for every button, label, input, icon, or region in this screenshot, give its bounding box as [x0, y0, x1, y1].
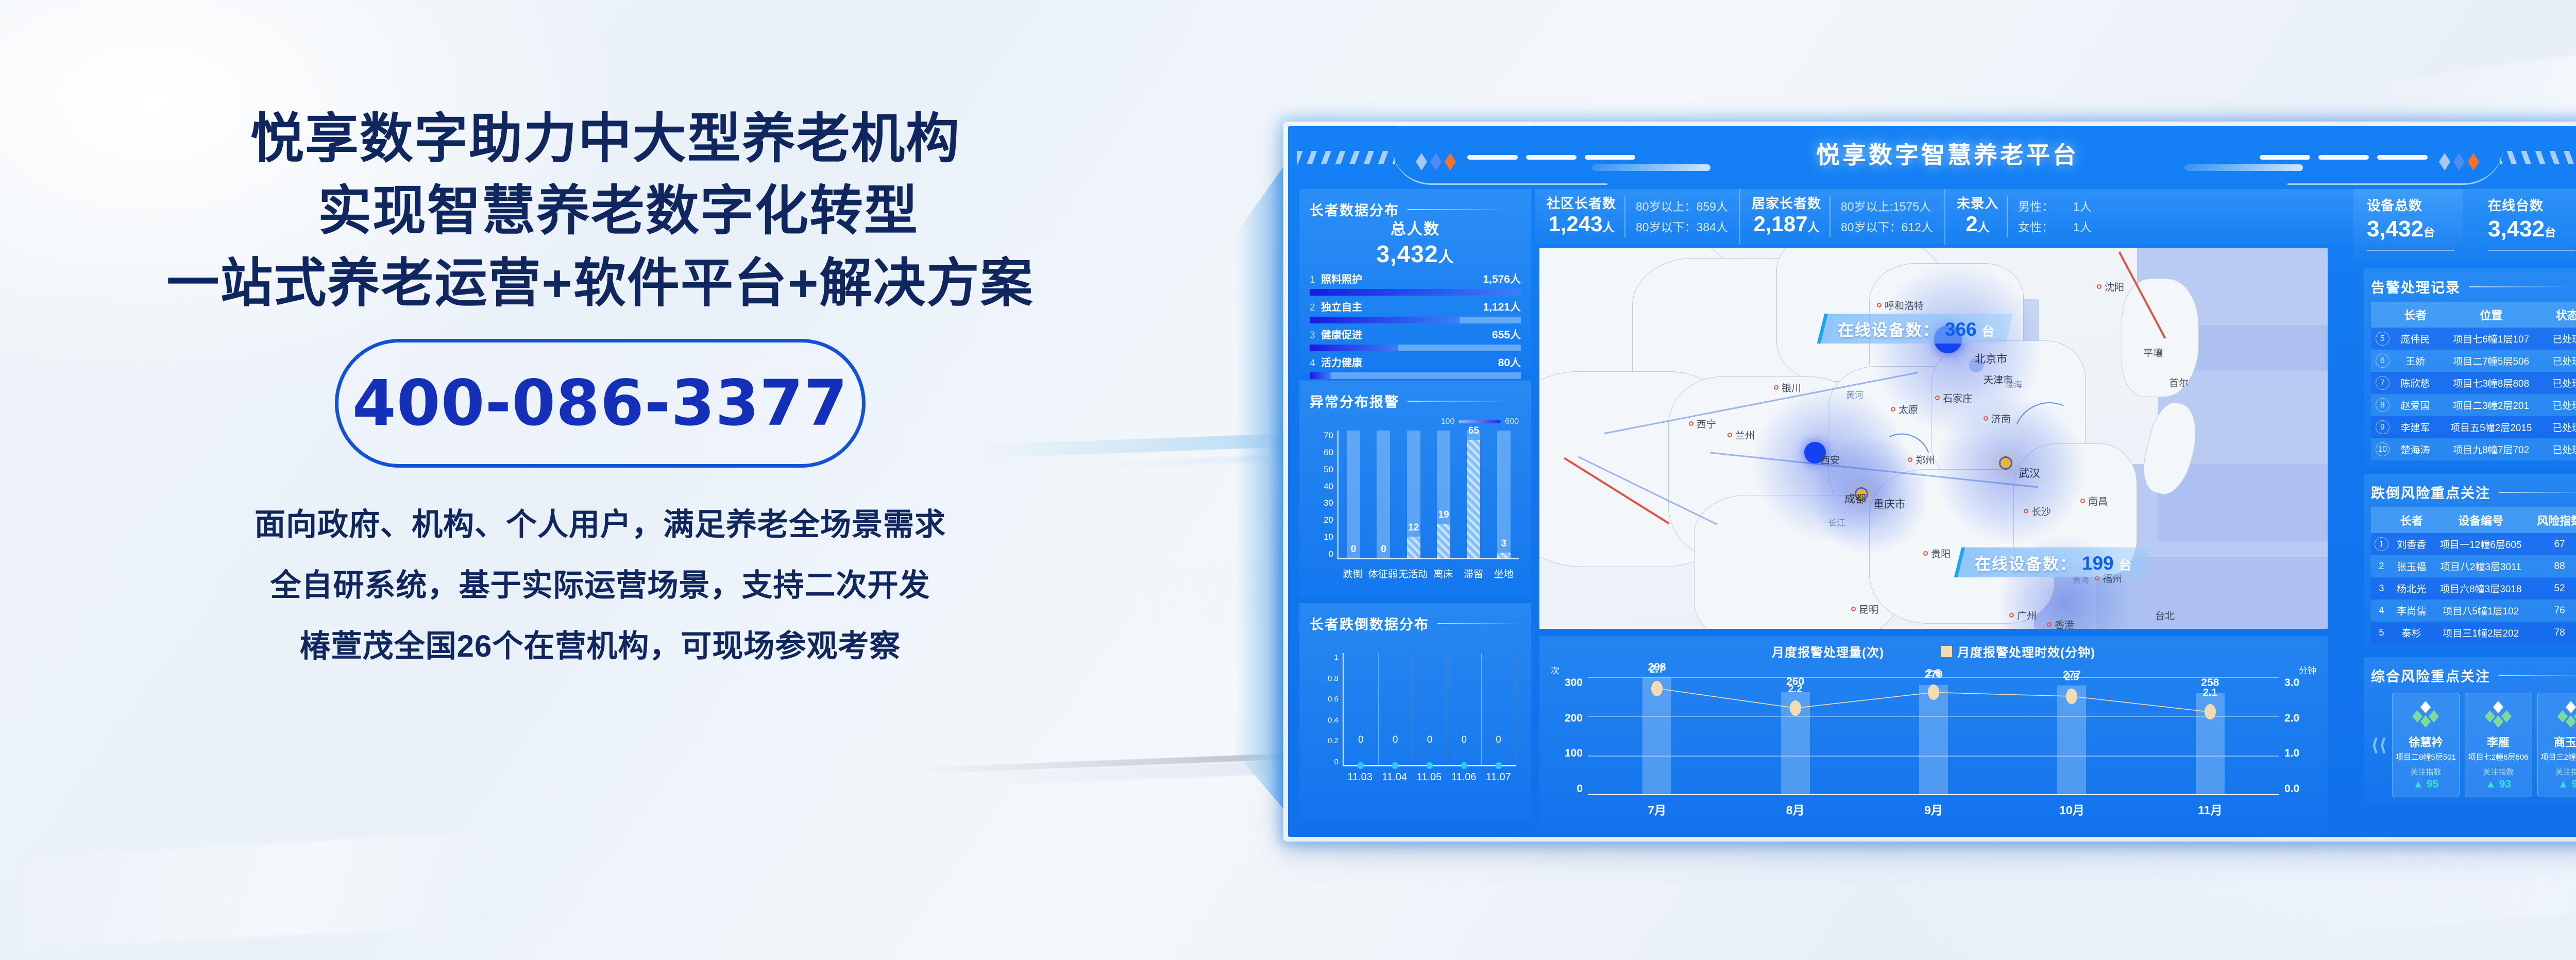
table-row[interactable]: 7陈欣慈项目七3幢8层808已处理: [2371, 372, 2576, 394]
gridline: [1516, 653, 1516, 766]
data-point[interactable]: [2205, 704, 2216, 719]
bar-column[interactable]: 65: [1459, 431, 1488, 558]
table-cell: 76: [2531, 599, 2576, 622]
x-tick: 10月: [2003, 800, 2141, 818]
table-cell: 项目二7幢5层506: [2436, 350, 2546, 372]
progress-track: [1310, 317, 1521, 323]
point-value: 2.1: [2203, 687, 2217, 699]
map-callout-2: 在线设备数： 199 台: [1954, 547, 2150, 577]
bar: 12: [1407, 537, 1420, 559]
table-row[interactable]: 2张玉福项目八2幢3层301188: [2371, 555, 2576, 577]
row-value: 655人: [1492, 327, 1521, 342]
data-point[interactable]: [1427, 762, 1433, 769]
table-cell: 88: [2531, 555, 2576, 577]
x-tick: 7月: [1588, 800, 1726, 818]
gridline: [1447, 653, 1447, 766]
device-online-cell: 在线台数 3,432台: [2475, 189, 2576, 261]
device-total-value: 3,432: [2367, 216, 2424, 242]
progress-track: [1310, 345, 1521, 351]
page-title: 悦享数字智慧养老平台: [1288, 136, 2576, 170]
row-index: 1: [1310, 275, 1321, 286]
map-city-label: 重庆市: [1873, 496, 1906, 511]
bar-column[interactable]: 0: [1368, 431, 1398, 558]
map-city-label: 呼和浩特: [1877, 298, 1924, 312]
plot-area: 298260279277258 2.72.22.62.52.1: [1588, 677, 2279, 795]
table-cell: 项目七3幢8层808: [2436, 372, 2546, 394]
distribution-list: 1照料照护1,576人2独立自主1,121人3健康促进655人4活力健康80人: [1310, 271, 1521, 379]
y-tick-left: 200: [1565, 712, 1583, 725]
panel-anomaly-alarms: 异常分布报警 100 600 706050403020100 001219653…: [1299, 381, 1531, 597]
chart-legend: 100 600: [1441, 417, 1519, 426]
point-value: 2.6: [1926, 667, 1941, 679]
y-tick: 0.6: [1328, 695, 1338, 704]
table-row[interactable]: 9李建军项目五5幢2层2015已处理: [2371, 416, 2576, 438]
map-city-label: 石家庄: [1935, 391, 1972, 405]
x-tick: 9月: [1865, 800, 2003, 818]
map-river-label: 长江: [1828, 516, 1845, 528]
row-label: 独立自主: [1321, 299, 1483, 314]
table-cell: 67: [2531, 533, 2576, 555]
stat-sub-under80: 80岁以下：612人: [1841, 217, 1933, 237]
map-city-label: 平壤: [2143, 346, 2163, 359]
data-point[interactable]: [1461, 762, 1467, 769]
headline-1: 悦享数字助力中大型养老机构: [0, 103, 1200, 175]
row-index: 1: [2371, 533, 2392, 555]
table-cell: 秦杉: [2392, 622, 2431, 644]
x-tick: 跌倒: [1337, 567, 1368, 580]
combo-plot: 次 分钟 3002001000 3.02.01.00.0 29826027927…: [1549, 662, 2318, 817]
y-tick: 60: [1324, 448, 1333, 458]
column-header: 状态: [2546, 302, 2576, 328]
bar-background: [1377, 431, 1390, 558]
progress-fill: [1310, 372, 1331, 379]
stat-value: 2,187: [1753, 212, 1807, 236]
gridline: [1413, 653, 1413, 766]
legend-item-duration[interactable]: 月度报警处理时效(分钟): [1941, 642, 2095, 660]
data-point[interactable]: [1928, 684, 1939, 700]
bar: 65: [1467, 440, 1480, 558]
headline-3: 一站式养老运营+软件平台+解决方案: [0, 247, 1200, 319]
map-city-label: 北京市: [1975, 351, 2007, 366]
map-city-label: 广州: [2009, 608, 2037, 622]
table-row[interactable]: 10楚海涛项目九8幢7层702已处理: [2371, 438, 2576, 460]
table-cell: 赵爱国: [2394, 394, 2437, 416]
point-value: 2.7: [1650, 664, 1664, 676]
table-row[interactable]: 6王娇项目二7幢5层506已处理: [2371, 350, 2576, 372]
background-streak: [19, 833, 486, 950]
bar-value: 65: [1468, 425, 1479, 437]
card-location: 项目七2幢6层606: [2468, 751, 2529, 762]
bar: 3: [1497, 553, 1511, 558]
row-label: 健康促进: [1321, 327, 1492, 341]
table-cell: 已处理: [2546, 416, 2576, 438]
distribution-row: 2独立自主1,121人: [1310, 299, 1521, 323]
y-tick: 0: [1334, 758, 1338, 766]
table-cell: 项目一12幢6层605: [2431, 533, 2531, 555]
row-value: 80人: [1498, 354, 1521, 370]
panel-title-text: 异常分布报警: [1310, 391, 1399, 411]
stat-label: 社区长者数: [1547, 195, 1616, 212]
y-tick-left: 100: [1565, 747, 1583, 760]
x-tick: 11.03: [1343, 772, 1377, 783]
bar-column[interactable]: 12: [1399, 431, 1429, 558]
x-tick: 滞留: [1459, 567, 1489, 580]
stat-unit: 人: [1978, 220, 1990, 234]
distribution-row: 3健康促进655人: [1310, 327, 1521, 351]
table-cell: 杨北光: [2392, 577, 2431, 599]
device-total-cell: 设备总数 3,432台: [2353, 189, 2475, 261]
x-tick: 11.04: [1377, 772, 1412, 783]
column-header: 位置: [2436, 302, 2546, 328]
dashboard-right-column: 告警处理记录 长者位置状态 5庞伟民项目七6幢1层107已处理6王娇项目二7幢5…: [2364, 268, 2576, 811]
card-name: 徐慧衿: [2396, 733, 2456, 750]
bar-column[interactable]: 19: [1429, 431, 1459, 558]
map-city-label: 兰州: [1727, 428, 1755, 442]
table-cell: 已处理: [2546, 438, 2576, 460]
table-cell: 项目七6幢1层107: [2436, 328, 2546, 350]
map-city-label: 西宁: [1689, 417, 1716, 431]
risk-card[interactable]: 商玉琴项目三2幢2层205关注指数▲ 96: [2537, 693, 2576, 797]
x-tick: 11月: [2141, 800, 2279, 818]
table-cell: 楚海涛: [2394, 438, 2437, 460]
y-tick-right: 1.0: [2284, 747, 2299, 760]
card-location: 项目三2幢2层205: [2541, 751, 2576, 762]
map-city-label: 济南: [1984, 412, 2011, 425]
x-tick: 无活动: [1398, 567, 1428, 580]
fall-risk-table: 长者设备编号风险指数 1刘香香项目一12幢6层605672张玉福项目八2幢3层3…: [2371, 507, 2576, 644]
callout-value: 199: [2082, 553, 2114, 574]
map-city-label: 武汉: [2019, 465, 2040, 481]
y-tick-left: 300: [1565, 677, 1583, 689]
title-rule: [2499, 492, 2576, 493]
row-index: 8: [2371, 394, 2394, 416]
table-cell: 项目二3幢2层201: [2436, 394, 2546, 416]
panel-title-text: 长者跌倒数据分布: [1310, 613, 1429, 633]
title-rule: [2469, 286, 2572, 287]
bar-column[interactable]: 0: [1338, 431, 1368, 558]
table-row[interactable]: 5秦杉项目三1幢2层20278: [2371, 622, 2576, 644]
device-online-label: 在线台数: [2488, 195, 2576, 214]
legend-item-volume[interactable]: 月度报警处理量(次): [1772, 642, 1884, 660]
x-tick: 11.06: [1447, 772, 1481, 783]
line-plot-area: 00000: [1343, 653, 1516, 766]
y-tick: 30: [1324, 498, 1333, 508]
table-row[interactable]: 4李尚儒项目八5幢1层10276: [2371, 599, 2576, 622]
title-rule: [1408, 209, 1511, 210]
map-city-label: 香港: [2047, 618, 2074, 629]
map-city-label: 银川: [1774, 381, 1801, 395]
bar-value: 12: [1408, 522, 1419, 534]
title-rule: [1437, 623, 1521, 624]
table-cell: 庞伟民: [2394, 328, 2437, 350]
row-index: 4: [1310, 358, 1321, 369]
table-cell: 52: [2531, 577, 2576, 599]
callout-text: 在线设备数：: [1975, 551, 2077, 574]
sub-line-3: 椿萱茂全国26个在营机构，可现场参观考察: [0, 616, 1200, 677]
card-index-value: ▲ 93: [2468, 778, 2529, 791]
table-cell: 项目六8幢3层3018: [2431, 577, 2531, 599]
column-header: [2371, 302, 2394, 328]
card-location: 项目二8幢5层501: [2396, 751, 2456, 762]
row-index: 2: [1310, 302, 1321, 314]
marketing-copy: 悦享数字助力中大型养老机构 实现智慧养老数字化转型 一站式养老运营+软件平台+解…: [0, 103, 1200, 677]
stat-label: 未录入: [1957, 195, 1998, 212]
panel-alarm-records: 告警处理记录 长者位置状态 5庞伟民项目七6幢1层107已处理6王娇项目二7幢5…: [2364, 268, 2576, 467]
map-city-label: 郑州: [1908, 453, 1935, 467]
gender-male-label: 男性：: [2018, 196, 2054, 217]
column-header: 设备编号: [2431, 507, 2531, 533]
progress-fill: [1310, 317, 1460, 323]
callout-text: 在线设备数：: [1838, 317, 1940, 340]
row-index: 7: [2371, 372, 2394, 394]
stat-unit: 人: [1603, 220, 1615, 234]
map-sea-label: 渤海: [2006, 378, 2022, 390]
row-index: 6: [2371, 350, 2394, 372]
callout-unit: 台: [1982, 321, 1995, 340]
panel-title: 异常分布报警: [1310, 391, 1521, 411]
phone-number: 400-086-3377: [352, 367, 848, 440]
legend-label: 月度报警处理时效(分钟): [1957, 642, 2095, 660]
stat-value: 1,243: [1548, 212, 1602, 236]
point-value: 2.2: [1788, 683, 1803, 695]
table-cell: 78: [2531, 622, 2576, 644]
y-tick: 0: [1329, 549, 1333, 559]
map-callout-1: 在线设备数： 366 台: [1817, 314, 2013, 344]
map-city-label: 贵阳: [1923, 546, 1951, 560]
row-label: 照料照护: [1321, 271, 1483, 286]
map-node-wuhan[interactable]: [1999, 456, 2012, 470]
risk-card[interactable]: 李雁项目七2幢6层606关注指数▲ 93: [2465, 693, 2532, 797]
x-tick: 坐地: [1488, 567, 1519, 580]
y-axis-ticks: 706050403020100: [1310, 431, 1333, 559]
table-cell: 项目九8幢7层702: [2436, 438, 2546, 460]
row-index: 10: [2371, 438, 2394, 460]
bar-value: 0: [1381, 544, 1386, 555]
card-index-label: 关注指数: [2396, 766, 2456, 777]
chevron-left-icon[interactable]: ⟨⟨: [2371, 735, 2387, 756]
point-value: 2.5: [2064, 672, 2079, 683]
table-row[interactable]: 8赵爱国项目二3幢2层201已处理: [2371, 394, 2576, 416]
table-cell: 张玉福: [2392, 555, 2431, 577]
diamond-cluster-icon: [2468, 699, 2529, 731]
progress-fill: [1310, 345, 1398, 351]
stat-unregistered: 未录入 2人 男性：1人 女性：1人: [1944, 189, 2103, 245]
device-online-unit: 台: [2545, 226, 2556, 239]
divider: [2367, 250, 2454, 251]
dashboard-header: 悦享数字智慧养老平台: [1288, 126, 2576, 188]
bar: 19: [1437, 524, 1450, 558]
device-total-label: 设备总数: [2367, 195, 2475, 214]
card-index-value: ▲ 96: [2541, 778, 2576, 791]
data-point[interactable]: [2066, 689, 2077, 704]
panel-title-text: 综合风险重点关注: [2371, 665, 2490, 685]
panel-title-text: 告警处理记录: [2371, 277, 2461, 297]
map-city-label: 南昌: [2080, 494, 2108, 508]
column-header: 风险指数: [2531, 507, 2576, 533]
panel-title-text: 跌倒风险重点关注: [2371, 482, 2490, 502]
total-people: 总人数 3,432人: [1310, 216, 1521, 268]
point-value: 0: [1358, 734, 1364, 746]
gridline: [1378, 653, 1379, 766]
phone-cta-button[interactable]: 400-086-3377: [335, 339, 866, 468]
table-cell: 李尚儒: [2392, 599, 2431, 622]
card-index-value: ▲ 95: [2396, 778, 2456, 791]
alarm-records-table: 长者位置状态 5庞伟民项目七6幢1层107已处理6王娇项目二7幢5层506已处理…: [2371, 302, 2576, 460]
map-city-label: 西安: [1820, 453, 1840, 467]
gender-male-value: 1人: [2073, 196, 2092, 217]
map-city-label: 台北: [2155, 608, 2175, 622]
panel-fall-risk: 跌倒风险重点关注 长者设备编号风险指数 1刘香香项目一12幢6层605672张玉…: [2364, 474, 2576, 650]
stat-community-elders: 社区长者数 1,243人 80岁以上：859人 80岁以下：384人: [1535, 189, 1739, 245]
stat-sub-over80: 80岁以上:1575人: [1841, 196, 1933, 217]
callout-value: 366: [1945, 319, 1977, 340]
table-cell: 已处理: [2546, 394, 2576, 416]
map-city-label: 长沙: [2024, 504, 2051, 518]
x-axis-labels: 跌倒体征弱无活动离床滞留坐地: [1337, 567, 1519, 580]
row-index: 5: [2371, 622, 2392, 644]
row-index: 3: [1310, 330, 1321, 341]
table-row[interactable]: 3杨北光项目六8幢3层301852: [2371, 577, 2576, 599]
china-map[interactable]: 呼和浩特 北京市 天津市 沈阳 平壤 首尔 石家庄 太原 济南 银川 西宁 兰州…: [1539, 248, 2328, 629]
diamond-cluster-icon: [2541, 699, 2576, 731]
diamond-cluster-icon: [2396, 699, 2456, 731]
map-city-label: 太原: [1891, 402, 1918, 416]
y-tick-right: 0.0: [2284, 783, 2299, 795]
progress-fill: [1310, 289, 1521, 296]
sub-line-2: 全自研系统，基于实际运营场景，支持二次开发: [0, 555, 1200, 616]
anomaly-bar-chart: 100 600 706050403020100 001219653 跌倒体征弱无…: [1310, 418, 1521, 588]
card-name: 李雁: [2468, 733, 2529, 750]
x-tick: 8月: [1726, 800, 1864, 818]
chart-legend: 月度报警处理量(次) 月度报警处理时效(分钟): [1549, 642, 2318, 660]
table-cell: 李建军: [2394, 416, 2437, 438]
table-row[interactable]: 1刘香香项目一12幢6层60567: [2371, 533, 2576, 555]
card-name: 商玉琴: [2541, 733, 2576, 750]
y-axis-right-unit: 分钟: [2299, 663, 2316, 676]
column-header: 长者: [2394, 302, 2437, 328]
panel-elder-distribution: 长者数据分布 总人数 3,432人 1照料照护1,576人2独立自主1,121人…: [1299, 189, 1531, 374]
gridline: [1481, 653, 1482, 766]
fall-line-chart: 10.80.60.40.20 00000 11.0311.0411.0511.0…: [1310, 643, 1521, 802]
distribution-row: 1照料照护1,576人: [1310, 271, 1521, 296]
bar-plot-area: 001219653: [1337, 431, 1519, 559]
card-index-label: 关注指数: [2541, 766, 2576, 777]
data-point[interactable]: [1790, 700, 1801, 716]
row-index: 2: [2371, 555, 2392, 577]
map-river-label: 黄河: [1846, 388, 1863, 401]
dashboard-monitor: 悦享数字智慧养老平台 社区长者数 1,243人 80岁以上：859人 80岁以下…: [1288, 126, 2576, 837]
panel-title: 告警处理记录: [2371, 277, 2576, 297]
y-tick: 10: [1324, 532, 1333, 542]
device-total-unit: 台: [2424, 226, 2435, 239]
gender-female-value: 1人: [2073, 217, 2092, 237]
map-city-label: 昆明: [1851, 602, 1878, 616]
table-cell: 陈欣慈: [2394, 372, 2437, 394]
distribution-row: 4活力健康80人: [1310, 354, 1521, 379]
data-point[interactable]: [1358, 762, 1364, 769]
table-cell: 已处理: [2546, 372, 2576, 394]
y-tick: 0.4: [1328, 716, 1338, 725]
data-point[interactable]: [1651, 681, 1663, 696]
y-tick: 50: [1324, 465, 1333, 475]
x-tick: 11.07: [1481, 772, 1516, 783]
table-row[interactable]: 5庞伟民项目七6幢1层107已处理: [2371, 328, 2576, 350]
table-cell: 项目八5幢1层102: [2431, 599, 2531, 622]
column-header: [2371, 507, 2392, 533]
progress-track: [1310, 372, 1521, 379]
point-value: 0: [1393, 734, 1398, 746]
x-tick: 离床: [1428, 567, 1459, 580]
y-tick: 1: [1334, 653, 1338, 662]
bar-value: 3: [1501, 538, 1507, 550]
y-tick: 20: [1324, 515, 1333, 525]
table-header-row: 长者位置状态: [2371, 302, 2576, 328]
device-totals: 设备总数 3,432台 在线台数 3,432台: [2353, 189, 2576, 261]
sub-line-1: 面向政府、机构、个人用户，满足养老全场景需求: [0, 494, 1200, 555]
bar-column[interactable]: 3: [1489, 431, 1519, 558]
y-tick-right: 3.0: [2284, 677, 2299, 689]
panel-title: 综合风险重点关注: [2371, 665, 2576, 685]
table-cell: 项目八2幢3层3011: [2431, 555, 2531, 577]
risk-card[interactable]: 徐慧衿项目二8幢5层501关注指数▲ 95: [2392, 693, 2460, 797]
y-tick: 0.2: [1328, 736, 1338, 745]
total-label: 总人数: [1310, 216, 1521, 239]
row-index: 3: [2371, 577, 2392, 599]
y-tick: 70: [1324, 431, 1333, 441]
divider: [2488, 250, 2575, 251]
panel-fall-distribution: 长者跌倒数据分布 10.80.60.40.20 00000 11.0311.04…: [1299, 603, 1531, 819]
map-city-label: 首尔: [2169, 375, 2189, 389]
legend-swatch: [1941, 646, 1952, 657]
row-index: 9: [2371, 416, 2394, 438]
table-cell: 刘香香: [2392, 533, 2431, 555]
map-city-label: 成都: [1844, 491, 1866, 506]
title-rule: [1408, 401, 1511, 402]
row-label: 活力健康: [1321, 354, 1498, 369]
stats-strip: 社区长者数 1,243人 80岁以上：859人 80岁以下：384人 居家长者数…: [1535, 189, 2463, 245]
row-value: 1,121人: [1483, 299, 1521, 314]
data-point[interactable]: [1392, 762, 1399, 769]
stat-value: 2: [1965, 212, 1977, 236]
line-series: 2.72.22.62.52.1: [1588, 677, 2279, 794]
point-value: 0: [1462, 734, 1467, 746]
table-cell: 王娇: [2394, 350, 2437, 372]
data-point[interactable]: [1495, 762, 1502, 769]
y-axis-left-ticks: 3002001000: [1554, 677, 1583, 795]
stat-unit: 人: [1808, 220, 1820, 234]
y-tick-left: 0: [1577, 783, 1583, 795]
panel-title-text: 长者数据分布: [1310, 199, 1399, 219]
dashboard-screen: 悦享数字智慧养老平台 社区长者数 1,243人 80岁以上：859人 80岁以下…: [1288, 126, 2576, 837]
stat-sub-over80: 80岁以上：859人: [1636, 196, 1728, 217]
device-online-value: 3,432: [2488, 216, 2545, 242]
row-value: 1,576人: [1483, 271, 1521, 286]
monthly-alarm-chart: 月度报警处理量(次) 月度报警处理时效(分钟) 次 分钟 3002001000 …: [1539, 636, 2328, 831]
marketing-sub-lines: 面向政府、机构、个人用户，满足养老全场景需求 全自研系统，基于实际运营场景，支持…: [0, 494, 1200, 677]
legend-gradient: [1459, 420, 1501, 423]
headline-2: 实现智慧养老数字化转型: [0, 175, 1200, 247]
x-tick: 11.05: [1412, 772, 1446, 783]
table-cell: 已处理: [2546, 328, 2576, 350]
total-value: 3,432: [1376, 241, 1438, 267]
y-axis-left-unit: 次: [1551, 663, 1560, 676]
bar-background: [1347, 431, 1360, 558]
row-index: 4: [2371, 599, 2392, 622]
x-axis-labels: 11.0311.0411.0511.0611.07: [1343, 772, 1516, 783]
panel-title: 长者跌倒数据分布: [1310, 613, 1521, 633]
table-header-row: 长者设备编号风险指数: [2371, 507, 2576, 533]
column-header: 长者: [2392, 507, 2431, 533]
